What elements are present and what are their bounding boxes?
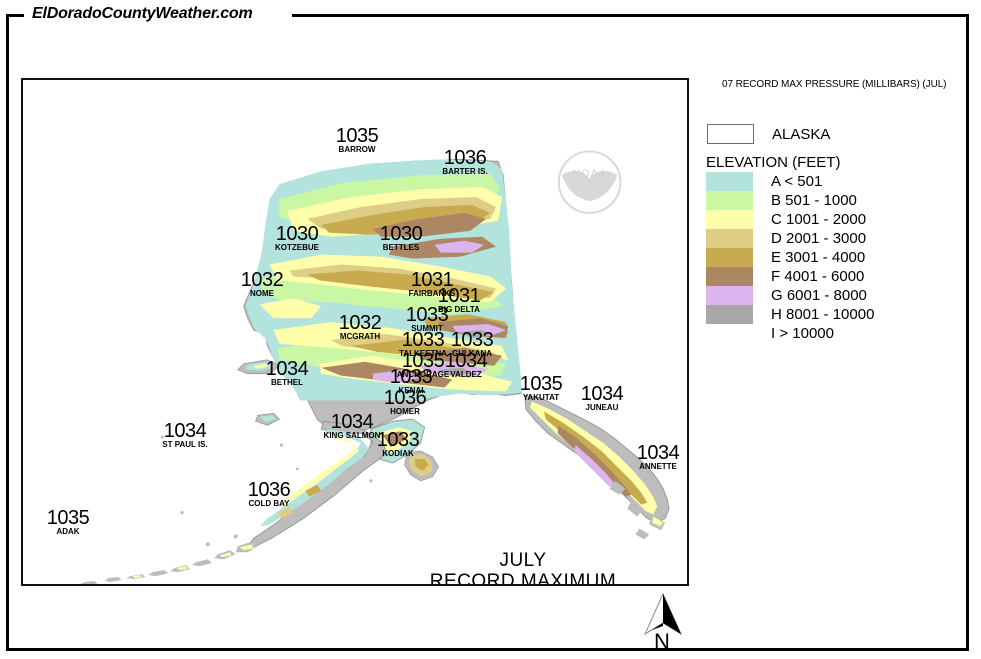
alaska-boundary-label: ALASKA	[772, 126, 830, 143]
elevation-swatch-f	[706, 267, 753, 286]
elevation-legend-list: A < 501B 501 - 1000C 1001 - 2000D 2001 -…	[706, 172, 874, 343]
elevation-swatch-h	[706, 305, 753, 324]
elevation-legend-row: C 1001 - 2000	[706, 210, 874, 229]
north-arrow-label: N	[654, 629, 670, 655]
elevation-label-h: H 8001 - 10000	[771, 306, 874, 323]
dataset-label: 07 RECORD MAX PRESSURE (MILLIBARS) (JUL)	[722, 79, 946, 90]
elevation-swatch-e	[706, 248, 753, 267]
caption-line-1: JULY	[413, 550, 633, 571]
map-page: ElDoradoCountyWeather.com	[0, 0, 981, 659]
elevation-label-e: E 3001 - 4000	[771, 249, 865, 266]
elevation-legend-row: H 8001 - 10000	[706, 305, 874, 324]
elevation-label-b: B 501 - 1000	[771, 192, 857, 209]
elevation-legend-title: ELEVATION (FEET)	[706, 154, 840, 171]
elevation-swatch-c	[706, 210, 753, 229]
elevation-swatch-a	[706, 172, 753, 191]
elevation-legend-row: G 6001 - 8000	[706, 286, 874, 305]
site-title: ElDoradoCountyWeather.com	[32, 5, 253, 23]
elevation-swatch-i	[706, 324, 753, 343]
elevation-legend-row: B 501 - 1000	[706, 191, 874, 210]
elevation-label-f: F 4001 - 6000	[771, 268, 864, 285]
elevation-label-a: A < 501	[771, 173, 822, 190]
elevation-label-i: I > 10000	[771, 325, 834, 342]
elevation-swatch-b	[706, 191, 753, 210]
elevation-legend-row: D 2001 - 3000	[706, 229, 874, 248]
elevation-legend-row: F 4001 - 6000	[706, 267, 874, 286]
elevation-swatch-d	[706, 229, 753, 248]
elevation-label-c: C 1001 - 2000	[771, 211, 866, 228]
map-panel: NOAA 1035BARROW1036BARTER IS.1030KOTZEBU…	[21, 78, 689, 586]
caption-line-2: RECORD MAXIMUM	[413, 571, 633, 586]
elevation-legend-row: A < 501	[706, 172, 874, 191]
alaska-elevation-map: NOAA	[23, 80, 687, 584]
legend-boundary-row: ALASKA	[707, 124, 830, 144]
elevation-legend-row: E 3001 - 4000	[706, 248, 874, 267]
elevation-label-g: G 6001 - 8000	[771, 287, 867, 304]
svg-text:NOAA: NOAA	[572, 168, 607, 180]
elevation-legend-row: I > 10000	[706, 324, 874, 343]
alaska-boundary-swatch	[707, 124, 754, 144]
elevation-swatch-g	[706, 286, 753, 305]
elevation-label-d: D 2001 - 3000	[771, 230, 866, 247]
map-caption: JULY RECORD MAXIMUM SEA LEVEL PRESSURE	[413, 550, 633, 586]
